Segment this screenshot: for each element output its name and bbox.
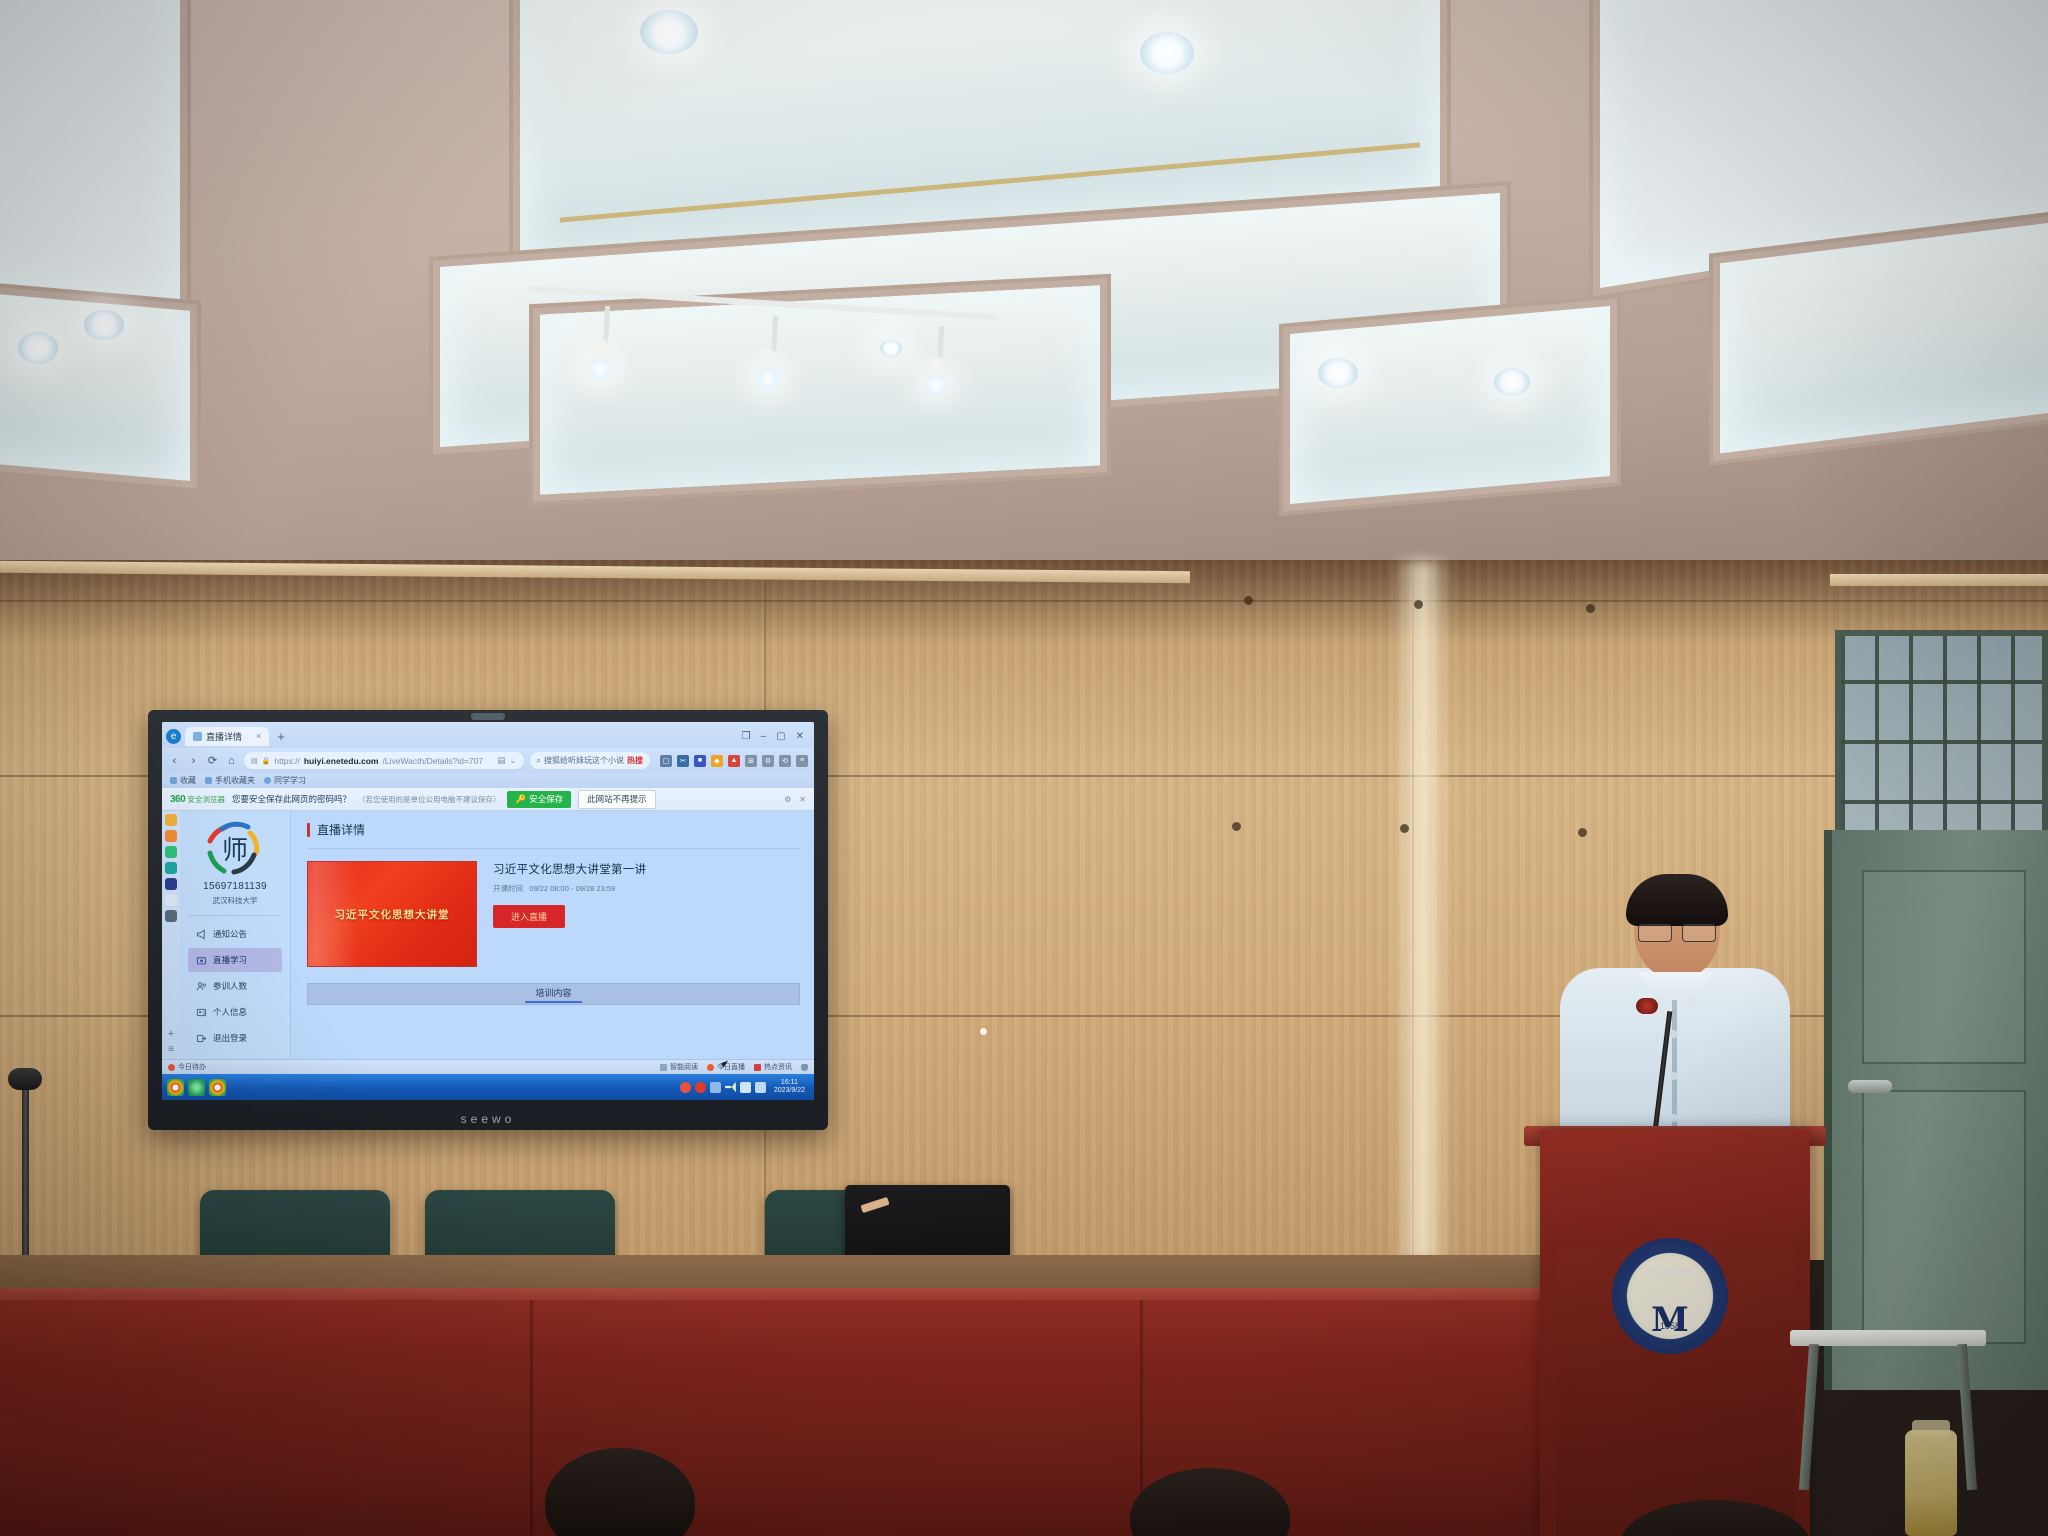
url-input[interactable]: ▤ 🔒 https:// huiyi.enetedu.com /LiveWact… bbox=[244, 752, 524, 769]
sidebar-item-notice[interactable]: 通知公告 bbox=[188, 922, 282, 946]
shield-icon bbox=[801, 1064, 808, 1071]
applet-blank-icon[interactable] bbox=[165, 894, 177, 906]
star-icon bbox=[170, 777, 177, 784]
taskbar-clock[interactable]: 16:11 2023/9/22 bbox=[770, 1079, 805, 1094]
sidebar-item-logout[interactable]: 退出登录 bbox=[188, 1026, 282, 1050]
content-tabbar: 培训内容 bbox=[307, 983, 800, 1005]
applet-game-icon[interactable] bbox=[165, 830, 177, 842]
search-input[interactable]: ⌕ 搜狐给听妹玩这个小说 热搜 bbox=[530, 752, 650, 769]
brand-text: 360 bbox=[170, 794, 185, 805]
track-lamp bbox=[757, 368, 779, 390]
password-save-notification: 360 安全浏览器 您要安全保存此网页的密码吗？ （若您使用的是单位公用电脑不建… bbox=[162, 788, 814, 811]
notification-message: 您要安全保存此网页的密码吗？ bbox=[232, 793, 351, 805]
notification-actions: ⚙ ✕ bbox=[784, 795, 806, 804]
floor-mic-head bbox=[8, 1068, 42, 1090]
university-emblem: 武汉科技大学 M 1958 bbox=[1612, 1238, 1728, 1354]
megaphone-icon bbox=[196, 929, 207, 940]
browser-address-bar: ‹ › ⟳ ⌂ ▤ 🔒 https:// huiyi.enetedu.com /… bbox=[162, 748, 814, 773]
applet-office-icon[interactable] bbox=[165, 910, 177, 922]
speaker-hair bbox=[1626, 874, 1728, 926]
status-smart-read[interactable]: 智能阅读 bbox=[660, 1062, 698, 1072]
sidebar-item-label: 直播学习 bbox=[213, 954, 247, 966]
gear-icon[interactable]: ⚙ bbox=[784, 795, 791, 804]
notification-submessage: （若您使用的是单位公用电脑不建议保存） bbox=[358, 794, 501, 805]
account-school: 武汉科技大学 bbox=[213, 895, 258, 906]
web-page: + ≡ 师 bbox=[162, 811, 814, 1059]
windows-taskbar: 16:11 2023/9/22 bbox=[162, 1074, 814, 1100]
close-button[interactable]: ✕ bbox=[796, 731, 804, 742]
status-shield[interactable] bbox=[801, 1064, 808, 1071]
history-icon[interactable]: ⟲ bbox=[779, 755, 791, 767]
interactive-display-panel: seewo e 直播详情 × + ❐ – ▢ ✕ bbox=[148, 710, 828, 1130]
clock-time: 16:11 bbox=[781, 1079, 798, 1086]
grid-icon[interactable]: ⊞ bbox=[745, 755, 757, 767]
page-content: 直播详情 习近平文化思想大讲堂 习近平文化思想大讲堂第一讲 开课时间 bbox=[291, 811, 814, 1059]
maximize-button[interactable]: ▢ bbox=[776, 731, 785, 742]
speaker-glasses bbox=[1638, 924, 1716, 940]
display-brand: seewo bbox=[148, 1112, 828, 1126]
today-todo[interactable]: 今日待办 bbox=[168, 1062, 206, 1072]
sidebar-item-label: 个人信息 bbox=[213, 1006, 247, 1018]
people-icon bbox=[196, 981, 207, 992]
course-row: 习近平文化思想大讲堂 习近平文化思想大讲堂第一讲 开课时间 09/22 08:0… bbox=[307, 861, 800, 967]
sidebar-item-label: 通知公告 bbox=[213, 928, 247, 940]
translate-icon[interactable]: ■ bbox=[694, 755, 706, 767]
title-accent-bar bbox=[307, 823, 310, 837]
ceiling-downlight bbox=[1494, 368, 1530, 396]
browser-toolbar-icons: ▢ ✂ ■ ◆ ▲ ⊞ ⚙ ⟲ ≡ bbox=[656, 755, 808, 767]
screenshot-icon[interactable]: ▢ bbox=[660, 755, 672, 767]
sidebar-item-profile[interactable]: 个人信息 bbox=[188, 1000, 282, 1024]
home-button[interactable]: ⌂ bbox=[225, 755, 238, 767]
forward-button[interactable]: › bbox=[187, 755, 200, 767]
ceiling bbox=[0, 0, 2048, 575]
save-password-label: 安全保存 bbox=[529, 793, 563, 805]
star-icon[interactable]: ▤ bbox=[497, 755, 505, 766]
status-hot-news[interactable]: 热点资讯 bbox=[754, 1062, 792, 1072]
dismiss-password-button[interactable]: 此网站不再提示 bbox=[578, 790, 656, 809]
door-handle[interactable] bbox=[1848, 1080, 1892, 1093]
brand-subtext: 安全浏览器 bbox=[187, 795, 225, 804]
reader-icon: ▤ bbox=[251, 757, 258, 765]
course-time: 开课时间 09/22 08:00 - 09/28 23:59 bbox=[493, 883, 646, 894]
course-poster-text: 习近平文化思想大讲堂 bbox=[335, 907, 450, 922]
hot-search-badge[interactable]: 热搜 bbox=[627, 755, 643, 766]
browser-status-bar: 今日待办 智能阅读 今日直播 热点资讯 bbox=[162, 1059, 814, 1074]
shield-icon[interactable]: ◆ bbox=[711, 755, 723, 767]
edge-icon[interactable] bbox=[188, 1079, 205, 1096]
applet-note-icon[interactable] bbox=[165, 846, 177, 858]
id-card-icon bbox=[196, 1007, 207, 1018]
laptop-sticker bbox=[860, 1197, 889, 1213]
minimize-button[interactable]: – bbox=[761, 731, 767, 742]
url-scheme: https:// bbox=[274, 756, 300, 766]
bookmark-label: 同学学习 bbox=[274, 775, 306, 786]
ceiling-downlight bbox=[1318, 358, 1358, 388]
reader-icon bbox=[660, 1064, 667, 1071]
bookmark-label: 手机收藏夹 bbox=[215, 775, 255, 786]
chevron-down-icon[interactable]: ⌄ bbox=[509, 755, 516, 766]
browser-tab-strip: e 直播详情 × + ❐ – ▢ ✕ bbox=[162, 722, 814, 748]
bookmarks-bar: 收藏 手机收藏夹 同学学习 bbox=[162, 773, 814, 788]
applet-cloud-icon[interactable] bbox=[165, 862, 177, 874]
ime-icon[interactable] bbox=[740, 1082, 751, 1093]
title-divider bbox=[307, 848, 800, 849]
browser-side-applets: + ≡ bbox=[162, 811, 180, 1059]
site-logo: 师 bbox=[204, 819, 266, 877]
system-tray: 16:11 2023/9/22 bbox=[680, 1079, 809, 1094]
url-host: huiyi.enetedu.com bbox=[304, 756, 379, 766]
track-lamp bbox=[925, 374, 947, 396]
flame-icon bbox=[707, 1064, 714, 1071]
bookmark-item[interactable]: 手机收藏夹 bbox=[205, 775, 255, 786]
bookmark-item[interactable]: 同学学习 bbox=[264, 775, 306, 786]
applet-favorites-icon[interactable] bbox=[165, 814, 177, 826]
browser-logo-icon: e bbox=[166, 729, 181, 744]
phone-icon bbox=[205, 777, 212, 784]
save-password-button[interactable]: 🔑 安全保存 bbox=[507, 791, 571, 808]
wallet-icon[interactable]: ▲ bbox=[728, 755, 740, 767]
course-time-label: 开课时间 bbox=[493, 884, 523, 893]
track-lamp bbox=[589, 358, 611, 380]
brand-360-logo: 360 安全浏览器 bbox=[170, 794, 225, 805]
todo-icon bbox=[168, 1064, 175, 1071]
emblem-inner: 武汉科技大学 M 1958 bbox=[1631, 1257, 1709, 1335]
svg-text:师: 师 bbox=[222, 836, 248, 866]
emblem-arc-text: 武汉科技大学 bbox=[1631, 1266, 1709, 1276]
status-label: 智能阅读 bbox=[670, 1062, 698, 1072]
page-title-text: 直播详情 bbox=[317, 821, 365, 838]
shield-icon[interactable] bbox=[695, 1082, 706, 1093]
front-desk bbox=[0, 1300, 1545, 1536]
reload-button[interactable]: ⟳ bbox=[206, 754, 219, 767]
sidebar-nav: 通知公告 直播学习 参训人数 bbox=[180, 922, 290, 1050]
volume-icon[interactable] bbox=[725, 1082, 736, 1093]
ceiling-downlight bbox=[84, 310, 124, 340]
status-label: 热点资讯 bbox=[764, 1062, 792, 1072]
page-title: 直播详情 bbox=[307, 821, 800, 838]
broadcast-icon bbox=[196, 955, 207, 966]
tab-close-icon[interactable]: × bbox=[256, 731, 261, 741]
emblem-year: 1958 bbox=[1631, 1321, 1709, 1331]
tab-title: 直播详情 bbox=[206, 730, 242, 743]
sidebar-item-label: 参训人数 bbox=[213, 980, 247, 992]
window-controls: ❐ – ▢ ✕ bbox=[742, 731, 810, 742]
notify-icon[interactable] bbox=[680, 1082, 691, 1093]
enter-live-button[interactable]: 进入直播 bbox=[493, 905, 565, 928]
course-info: 习近平文化思想大讲堂第一讲 开课时间 09/22 08:00 - 09/28 2… bbox=[493, 861, 646, 928]
course-time-value: 09/22 08:00 - 09/28 23:59 bbox=[529, 884, 615, 893]
sidebar-divider bbox=[189, 915, 281, 916]
chrome-icon[interactable] bbox=[167, 1079, 184, 1096]
bookmark-label: 收藏 bbox=[180, 775, 196, 786]
display-screen: e 直播详情 × + ❐ – ▢ ✕ ‹ bbox=[162, 722, 814, 1100]
key-icon: 🔑 bbox=[515, 794, 526, 805]
site-sidebar: 师 15697181139 武汉科技大学 通知公告 bbox=[180, 811, 291, 1059]
new-tab-button[interactable]: + bbox=[273, 729, 289, 744]
chrome2-icon[interactable] bbox=[209, 1079, 226, 1096]
network-icon[interactable] bbox=[710, 1082, 721, 1093]
ceiling-downlight bbox=[1140, 32, 1194, 74]
browser-window: e 直播详情 × + ❐ – ▢ ✕ ‹ bbox=[162, 722, 814, 1100]
add-applet-button[interactable]: + bbox=[168, 1028, 174, 1040]
tab-training-content[interactable]: 培训内容 bbox=[525, 985, 581, 1003]
water-bottle bbox=[1905, 1430, 1957, 1536]
scissors-icon[interactable]: ✂ bbox=[677, 755, 689, 767]
door[interactable] bbox=[1824, 830, 2048, 1390]
course-poster[interactable]: 习近平文化思想大讲堂 bbox=[307, 861, 477, 967]
floor-mic-stand bbox=[22, 1090, 29, 1270]
gear-icon[interactable]: ⚙ bbox=[762, 755, 774, 767]
sidebar-item-live-study[interactable]: 直播学习 bbox=[188, 948, 282, 972]
battery-icon[interactable] bbox=[755, 1082, 766, 1093]
photo-scene: seewo e 直播详情 × + ❐ – ▢ ✕ bbox=[0, 0, 2048, 1536]
ceiling-downlight bbox=[640, 10, 698, 54]
clock-date: 2023/9/22 bbox=[774, 1087, 805, 1094]
applet-calendar-icon[interactable] bbox=[165, 878, 177, 890]
url-path: /LiveWacth/Details?id=707 bbox=[382, 756, 483, 766]
applets-menu-icon[interactable]: ≡ bbox=[168, 1044, 174, 1059]
logout-icon bbox=[196, 1033, 207, 1044]
browser-tab[interactable]: 直播详情 × bbox=[185, 727, 269, 746]
restore-button[interactable]: ❐ bbox=[742, 731, 751, 742]
sidebar-item-participants[interactable]: 参训人数 bbox=[188, 974, 282, 998]
podium-microphone-head bbox=[1636, 998, 1658, 1014]
news-icon bbox=[754, 1064, 761, 1071]
bookmark-item[interactable]: 收藏 bbox=[170, 775, 196, 786]
back-button[interactable]: ‹ bbox=[168, 755, 181, 767]
course-title: 习近平文化思想大讲堂第一讲 bbox=[493, 861, 646, 877]
lock-icon: 🔒 bbox=[262, 757, 271, 765]
search-icon: ⌕ bbox=[537, 756, 541, 766]
ceiling-downlight bbox=[18, 332, 58, 364]
menu-icon[interactable]: ≡ bbox=[796, 755, 808, 767]
panel-camera bbox=[471, 713, 505, 720]
account-phone: 15697181139 bbox=[203, 881, 267, 892]
status-bar-right: 智能阅读 今日直播 热点资讯 bbox=[660, 1062, 808, 1072]
tab-favicon bbox=[193, 732, 202, 741]
search-placeholder: 搜狐给听妹玩这个小说 bbox=[544, 755, 624, 766]
sidebar-item-label: 退出登录 bbox=[213, 1032, 247, 1044]
close-icon[interactable]: ✕ bbox=[799, 795, 806, 804]
todo-label: 今日待办 bbox=[178, 1062, 206, 1072]
speaker-person bbox=[1560, 880, 1790, 1150]
circle-icon bbox=[264, 777, 271, 784]
